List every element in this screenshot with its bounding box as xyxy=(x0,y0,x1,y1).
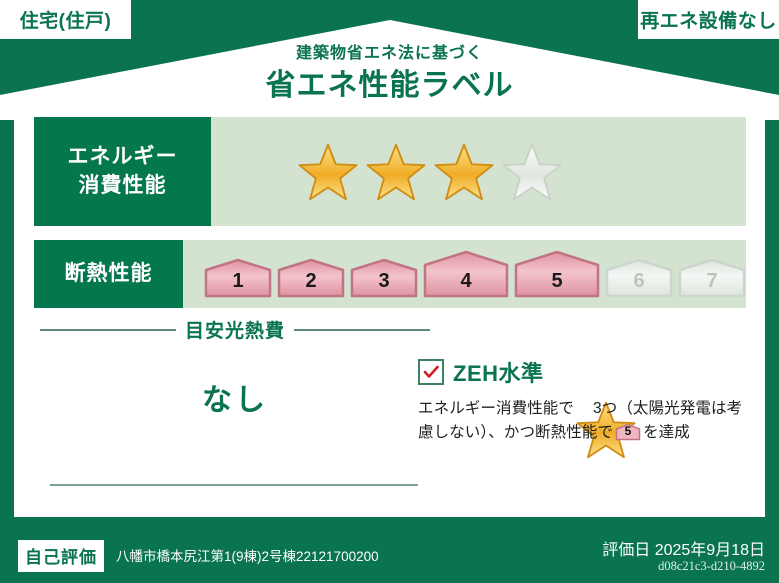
inline-star-icon xyxy=(575,399,592,416)
insulation-grade-number: 6 xyxy=(605,270,673,293)
insulation-grade-item: 7 xyxy=(678,258,746,298)
energy-performance-label-line2: 消費性能 xyxy=(79,172,167,200)
energy-label-root: 住宅(住戸) 再エネ設備なし 建築物省エネ法に基づく 省エネ性能ラベル エネルギ… xyxy=(0,0,779,583)
insulation-grade-number: 1 xyxy=(204,270,272,293)
badge-renewable-energy-label: 再エネ設備なし xyxy=(640,6,777,33)
badge-building-type-label: 住宅(住戸) xyxy=(20,6,112,33)
insulation-grade-number: 5 xyxy=(514,270,600,293)
energy-performance-label: エネルギー 消費性能 xyxy=(34,117,211,226)
utility-cost-title: 目安光熱費 xyxy=(185,316,285,343)
star-filled-icon xyxy=(433,141,495,203)
insulation-grade-number: 7 xyxy=(678,270,746,293)
insulation-grade-item: 2 xyxy=(277,258,345,298)
badge-building-type: 住宅(住戸) xyxy=(0,0,131,39)
evaluation-date: 評価日 2025年9月18日 xyxy=(602,536,765,560)
utility-cost-value: なし xyxy=(40,375,430,419)
zeh-desc-stars: 3つ（太陽光発電 xyxy=(593,400,711,417)
zeh-description: エネルギー消費性能で3つ（太陽光発電は考慮しない）、かつ断熱性能で5を達成 xyxy=(418,397,748,445)
star-filled-icon xyxy=(365,141,427,203)
insulation-grade-scale: 1234567 xyxy=(204,250,746,298)
property-address: 八幡市橋本尻江第1(9棟)2号棟22121700200 xyxy=(116,545,379,565)
zeh-checkbox[interactable] xyxy=(418,359,444,385)
energy-performance-body xyxy=(211,117,746,226)
insulation-grade-number: 3 xyxy=(350,270,418,293)
insulation-performance-label: 断熱性能 xyxy=(34,240,183,308)
insulation-performance-label-text: 断熱性能 xyxy=(65,260,153,288)
star-empty-icon xyxy=(501,141,563,203)
badge-renewable-energy: 再エネ設備なし xyxy=(638,0,779,39)
insulation-grade-number: 4 xyxy=(423,270,509,293)
evaluation-id: d08c21c3-d210-4892 xyxy=(658,559,765,574)
zeh-heading: ZEH水準 xyxy=(418,356,748,388)
insulation-grade-item: 6 xyxy=(605,258,673,298)
title-main: 省エネ性能ラベル xyxy=(0,68,779,104)
footer-bar: 自己評価 八幡市橋本尻江第1(9棟)2号棟22121700200 評価日 202… xyxy=(0,527,779,583)
cost-rule-left xyxy=(40,329,176,331)
inline-grade-badge-num: 5 xyxy=(615,422,641,441)
zeh-desc-part1: エネルギー消費性能で xyxy=(418,400,574,417)
zeh-block: ZEH水準 エネルギー消費性能で3つ（太陽光発電は考慮しない）、かつ断熱性能で5… xyxy=(418,356,748,445)
insulation-grade-item: 3 xyxy=(350,258,418,298)
energy-performance-row: エネルギー 消費性能 xyxy=(34,117,746,226)
insulation-grade-item: 5 xyxy=(514,250,600,298)
cost-bottom-divider xyxy=(50,484,418,486)
utility-cost-heading: 目安光熱費 xyxy=(40,316,430,343)
insulation-performance-body: 1234567 xyxy=(183,240,746,308)
star-filled-icon xyxy=(297,141,359,203)
star-rating xyxy=(297,141,563,203)
inline-grade-badge: 5 xyxy=(615,423,641,441)
insulation-performance-row: 断熱性能 1234567 xyxy=(34,240,746,308)
zeh-title: ZEH水準 xyxy=(453,356,544,388)
cost-rule-right xyxy=(294,329,430,331)
title-block: 建築物省エネ法に基づく 省エネ性能ラベル xyxy=(0,44,779,104)
insulation-grade-item: 4 xyxy=(423,250,509,298)
insulation-grade-number: 2 xyxy=(277,270,345,293)
check-icon xyxy=(423,364,439,380)
label-panel: エネルギー 消費性能 断熱性能 1234567 目安光熱費 なし xyxy=(14,100,765,517)
energy-performance-label-line1: エネルギー xyxy=(68,143,178,171)
title-subtitle: 建築物省エネ法に基づく xyxy=(0,44,779,63)
self-evaluation-badge: 自己評価 xyxy=(18,540,104,572)
zeh-desc-part3: を達成 xyxy=(643,424,690,441)
insulation-grade-item: 1 xyxy=(204,258,272,298)
